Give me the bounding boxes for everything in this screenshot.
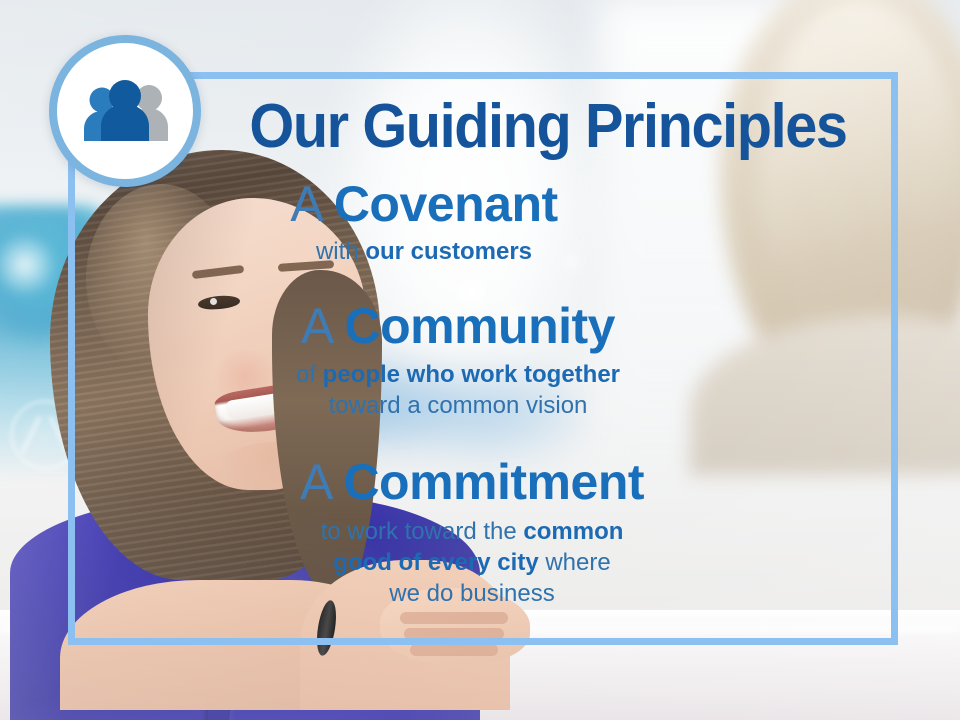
subtext-plain: with — [316, 238, 365, 265]
subtext-line: we do business — [68, 578, 876, 609]
subtext-line: of people who work together — [68, 359, 848, 390]
principle-keyword: Covenant — [334, 176, 558, 232]
text-overlay: Our Guiding Principles A Covenant with o… — [68, 72, 898, 645]
subtext-bold: people who work together — [323, 361, 620, 388]
subtext-line: toward a common vision — [68, 390, 848, 421]
group-of-people-icon — [73, 79, 177, 143]
subtext-bold: our customers — [365, 238, 532, 265]
guiding-principles-graphic: FLOW FLOW AUTOMOTIVE Our Guiding Princip… — [0, 0, 960, 720]
finger — [410, 644, 498, 656]
principle-subtext: with our customers — [68, 236, 780, 267]
principle-subtext: to work toward the common good of every … — [68, 516, 876, 609]
principle-heading: A Community — [68, 298, 848, 354]
principle-keyword: Community — [344, 298, 615, 354]
guiding-principles-badge — [49, 35, 201, 187]
subtext-plain: where — [539, 549, 611, 576]
subtext-plain: of — [296, 361, 323, 388]
subtext-bold: common — [523, 518, 623, 545]
page-title: Our Guiding Principles — [241, 94, 855, 160]
subtext-line: good of every city where — [68, 547, 876, 578]
principle-article: A — [290, 176, 333, 232]
principle-heading: A Covenant — [68, 176, 780, 232]
subtext-plain: to work toward the — [321, 518, 524, 545]
principle-article: A — [301, 298, 344, 354]
principle-subtext: of people who work together toward a com… — [68, 359, 848, 421]
principle-keyword: Commitment — [343, 454, 644, 510]
principle-article: A — [300, 454, 343, 510]
subtext-bold: good of every city — [333, 549, 538, 576]
subtext-line: to work toward the common — [68, 516, 876, 547]
principle-heading: A Commitment — [68, 454, 876, 510]
principle-community: A Community of people who work together … — [68, 298, 848, 421]
principle-covenant: A Covenant with our customers — [68, 176, 780, 267]
principle-commitment: A Commitment to work toward the common g… — [68, 454, 876, 609]
